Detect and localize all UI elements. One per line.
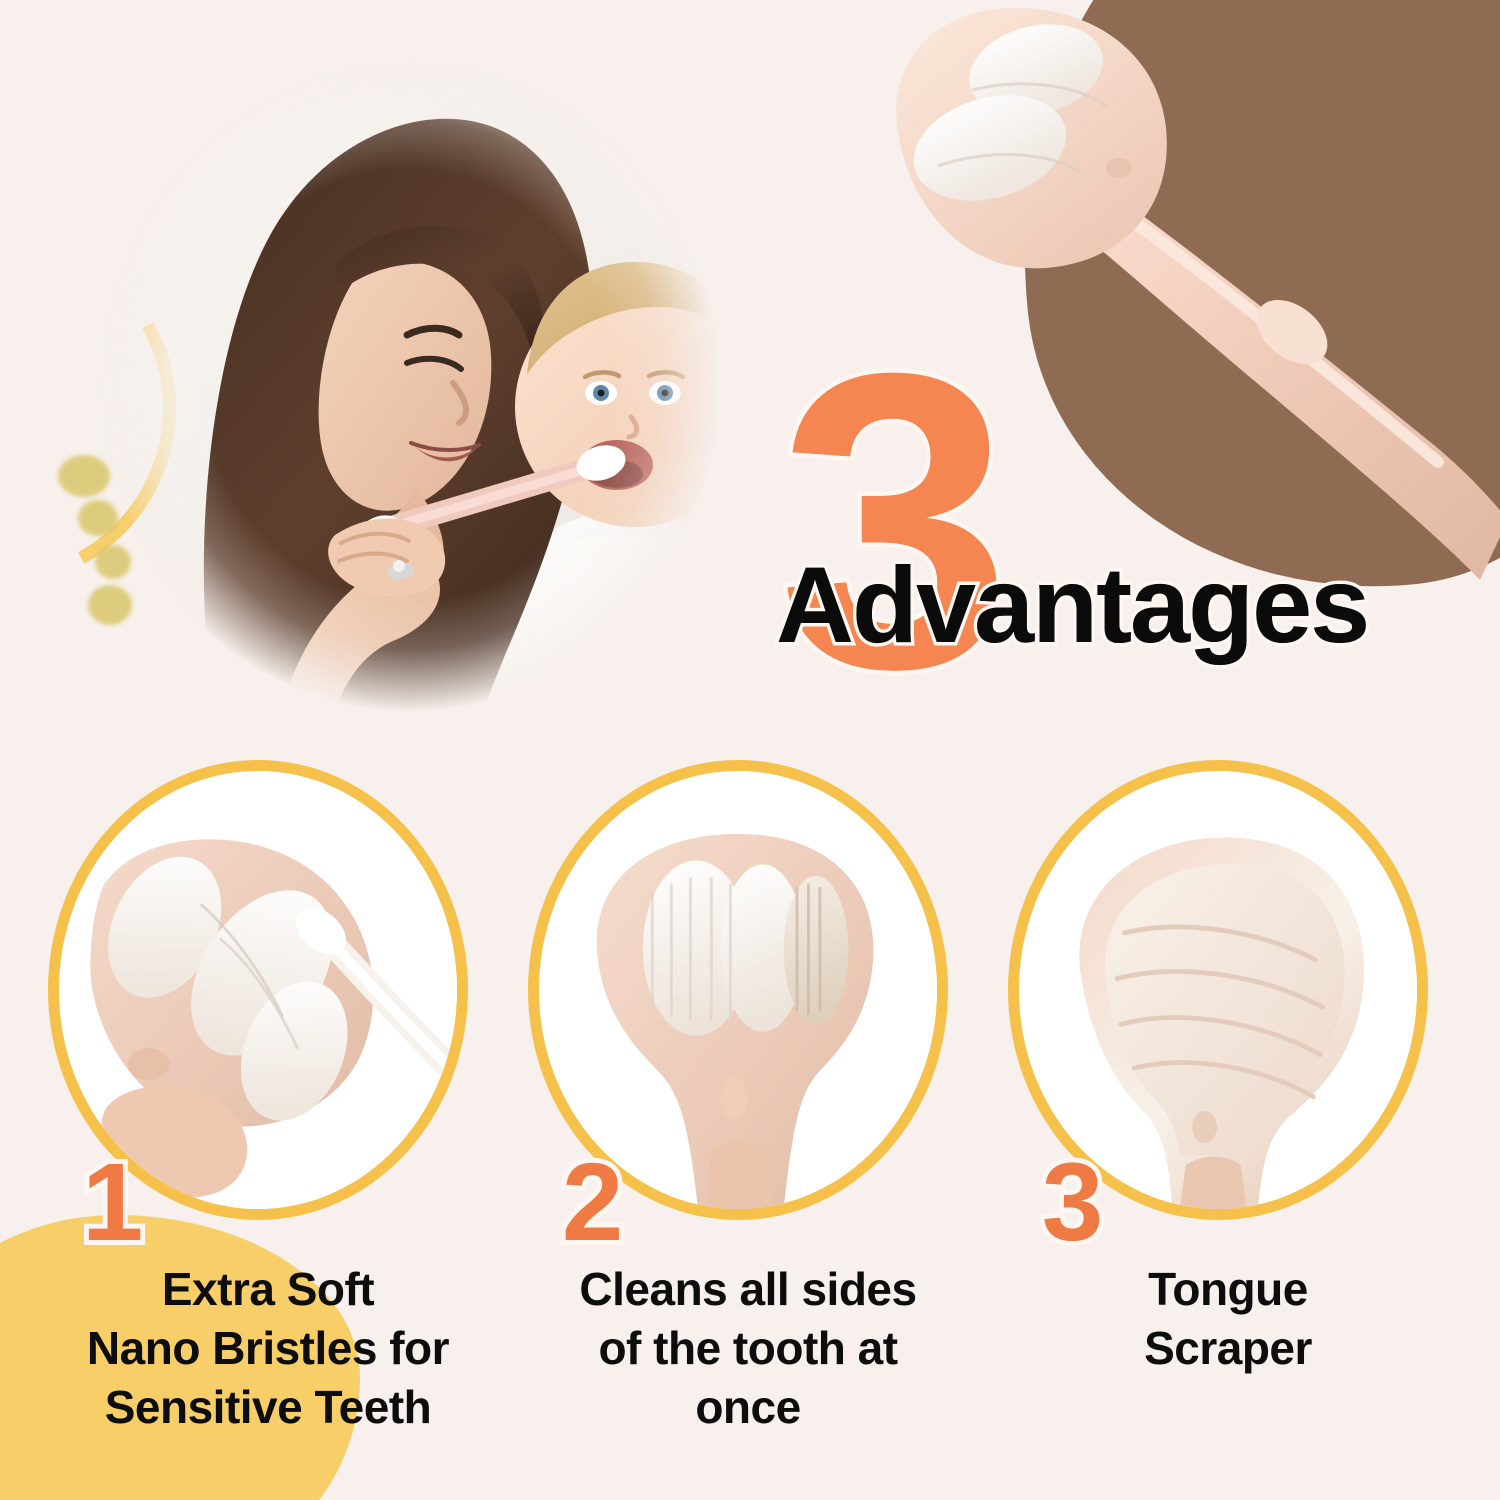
caption-line: Extra Soft bbox=[38, 1260, 498, 1319]
promo-infographic: 3 3 Advantages Advantages bbox=[0, 0, 1500, 1500]
caption-line: Sensitive Teeth bbox=[38, 1378, 498, 1437]
advantages-card-row: 1 1 Extra Soft Nano Bristles for Sensiti… bbox=[0, 760, 1500, 1500]
caption-line: once bbox=[518, 1378, 978, 1437]
hero-photo-mother-and-baby bbox=[35, 15, 755, 755]
advantage-caption-2: Cleans all sides of the tooth at once bbox=[518, 1260, 978, 1437]
caption-line: Cleans all sides bbox=[518, 1260, 978, 1319]
advantage-caption-1: Extra Soft Nano Bristles for Sensitive T… bbox=[38, 1260, 498, 1437]
headline-word: Advantages bbox=[776, 542, 1368, 667]
caption-line: Tongue bbox=[1018, 1260, 1438, 1319]
headline-number: 3 bbox=[778, 312, 1006, 732]
advantage-badge-3: 3 bbox=[1042, 1148, 1103, 1258]
headline-block: 3 3 Advantages Advantages bbox=[760, 330, 1450, 750]
advantage-badge-2: 2 bbox=[562, 1148, 623, 1258]
caption-line: Nano Bristles for bbox=[38, 1319, 498, 1378]
advantage-badge-1: 1 bbox=[82, 1148, 143, 1258]
advantage-caption-3: Tongue Scraper bbox=[1018, 1260, 1438, 1378]
caption-line: Scraper bbox=[1018, 1319, 1438, 1378]
caption-line: of the tooth at bbox=[518, 1319, 978, 1378]
